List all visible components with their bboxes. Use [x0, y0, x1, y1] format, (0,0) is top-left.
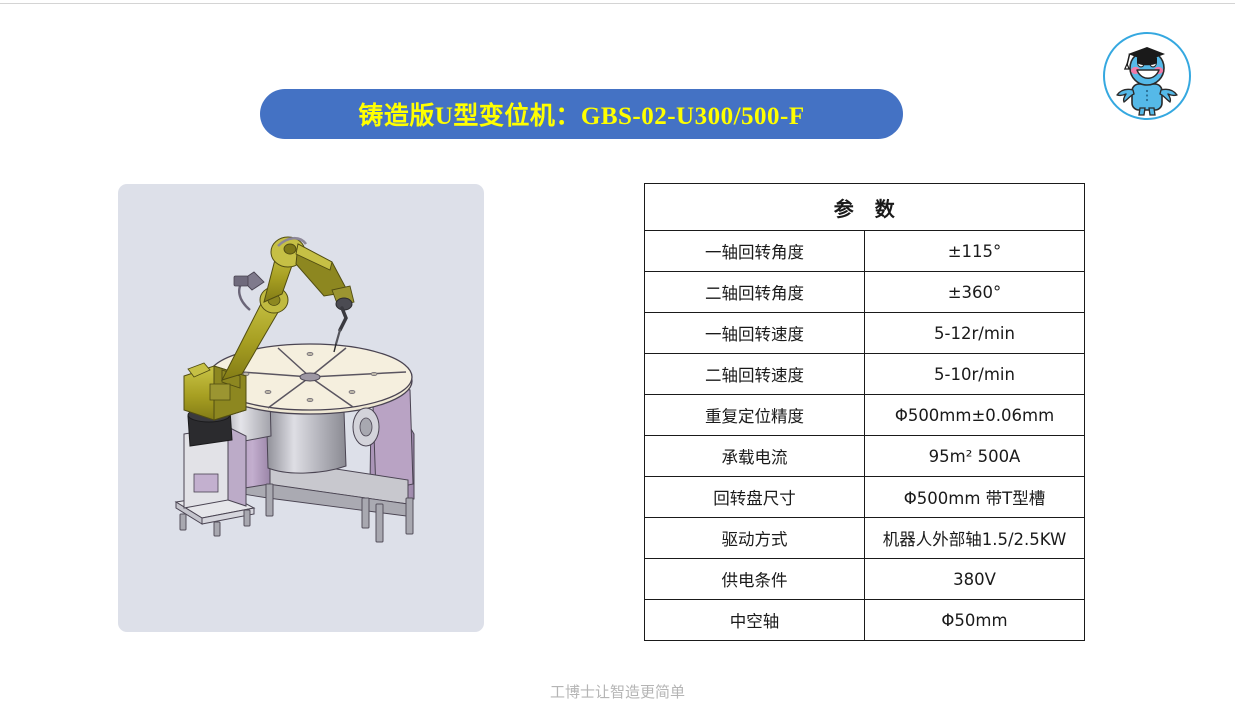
table-header-cell: 参 数	[645, 184, 1085, 231]
spec-label: 回转盘尺寸	[645, 477, 865, 518]
robot-positioner-illustration	[118, 184, 484, 632]
table-header-row: 参 数	[645, 184, 1085, 231]
spec-value: Φ500mm±0.06mm	[865, 395, 1085, 436]
spec-value: Φ500mm 带T型槽	[865, 477, 1085, 518]
table-row: 一轴回转角度 ±115°	[645, 231, 1085, 272]
spec-label: 中空轴	[645, 600, 865, 641]
spec-value: 机器人外部轴1.5/2.5KW	[865, 518, 1085, 559]
spec-label: 重复定位精度	[645, 395, 865, 436]
product-image-panel	[118, 184, 484, 632]
table-row: 承载电流 95m² 500A	[645, 436, 1085, 477]
spec-label: 二轴回转速度	[645, 354, 865, 395]
table-row: 一轴回转速度 5-12r/min	[645, 313, 1085, 354]
table-row: 驱动方式 机器人外部轴1.5/2.5KW	[645, 518, 1085, 559]
mascot-icon	[1103, 32, 1191, 120]
spec-label: 承载电流	[645, 436, 865, 477]
table-header-label: 参 数	[834, 193, 896, 222]
table-row: 二轴回转速度 5-10r/min	[645, 354, 1085, 395]
slide-top-divider	[0, 3, 1235, 4]
spec-label: 驱动方式	[645, 518, 865, 559]
spec-label: 一轴回转角度	[645, 231, 865, 272]
table-row: 回转盘尺寸 Φ500mm 带T型槽	[645, 477, 1085, 518]
spec-label: 二轴回转角度	[645, 272, 865, 313]
table-row: 二轴回转角度 ±360°	[645, 272, 1085, 313]
spec-label: 供电条件	[645, 559, 865, 600]
specification-table: 参 数 一轴回转角度 ±115° 二轴回转角度 ±360° 一轴回转速度 5-1…	[644, 183, 1085, 641]
spec-value: 5-10r/min	[865, 354, 1085, 395]
table-row: 重复定位精度 Φ500mm±0.06mm	[645, 395, 1085, 436]
footer-slogan: 工博士让智造更简单	[0, 681, 1235, 702]
spec-value: 380V	[865, 559, 1085, 600]
spec-value: 5-12r/min	[865, 313, 1085, 354]
spec-value: Φ50mm	[865, 600, 1085, 641]
spec-value: ±360°	[865, 272, 1085, 313]
page-title: 铸造版U型变位机：GBS-02-U300/500-F	[358, 96, 804, 132]
spec-value: ±115°	[865, 231, 1085, 272]
spec-value: 95m² 500A	[865, 436, 1085, 477]
spec-label: 一轴回转速度	[645, 313, 865, 354]
slide-title-banner: 铸造版U型变位机：GBS-02-U300/500-F	[260, 89, 903, 139]
table-row: 供电条件 380V	[645, 559, 1085, 600]
gongboshi-logo	[1103, 32, 1191, 120]
table-row: 中空轴 Φ50mm	[645, 600, 1085, 641]
